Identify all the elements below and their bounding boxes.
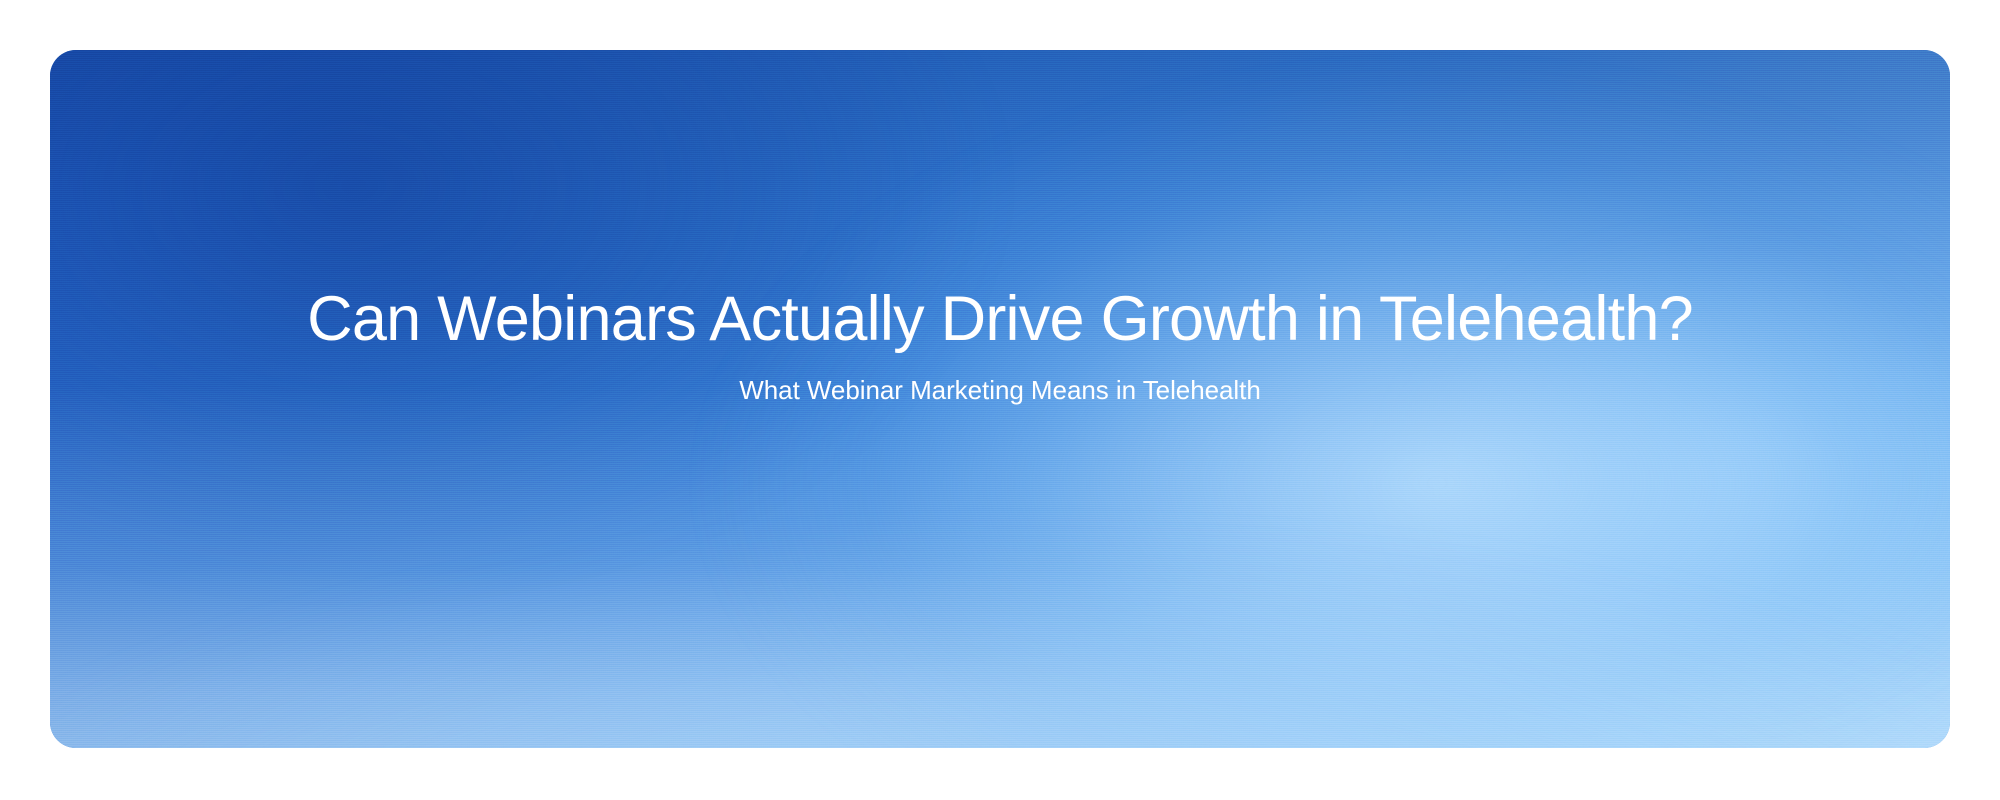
page-canvas: Can Webinars Actually Drive Growth in Te… (0, 0, 2000, 800)
hero-banner-card: Can Webinars Actually Drive Growth in Te… (50, 50, 1950, 748)
hero-title: Can Webinars Actually Drive Growth in Te… (110, 286, 1890, 353)
hero-text-block: Can Webinars Actually Drive Growth in Te… (50, 286, 1950, 406)
hero-subtitle: What Webinar Marketing Means in Teleheal… (110, 375, 1890, 406)
